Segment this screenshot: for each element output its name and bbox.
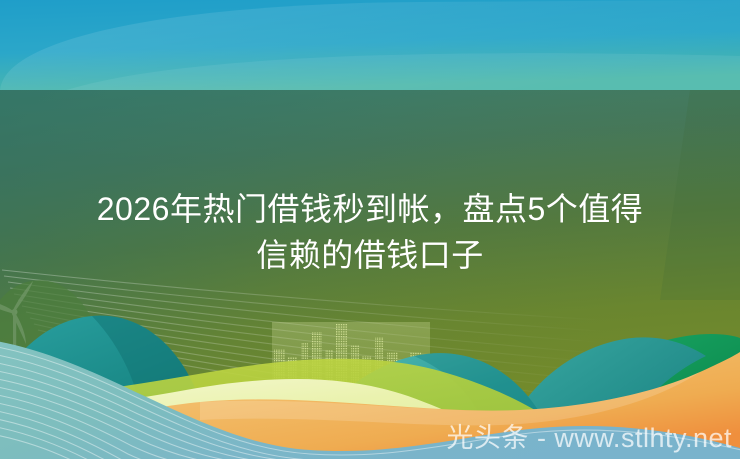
watermark: 光头条 - www.stlhty.net — [446, 416, 732, 455]
banner-image: 2026年热门借钱秒到帐，盘点5个值得 信赖的借钱口子 光头条 - www.st… — [0, 0, 740, 459]
headline-text: 2026年热门借钱秒到帐，盘点5个值得 信赖的借钱口子 — [0, 186, 740, 278]
